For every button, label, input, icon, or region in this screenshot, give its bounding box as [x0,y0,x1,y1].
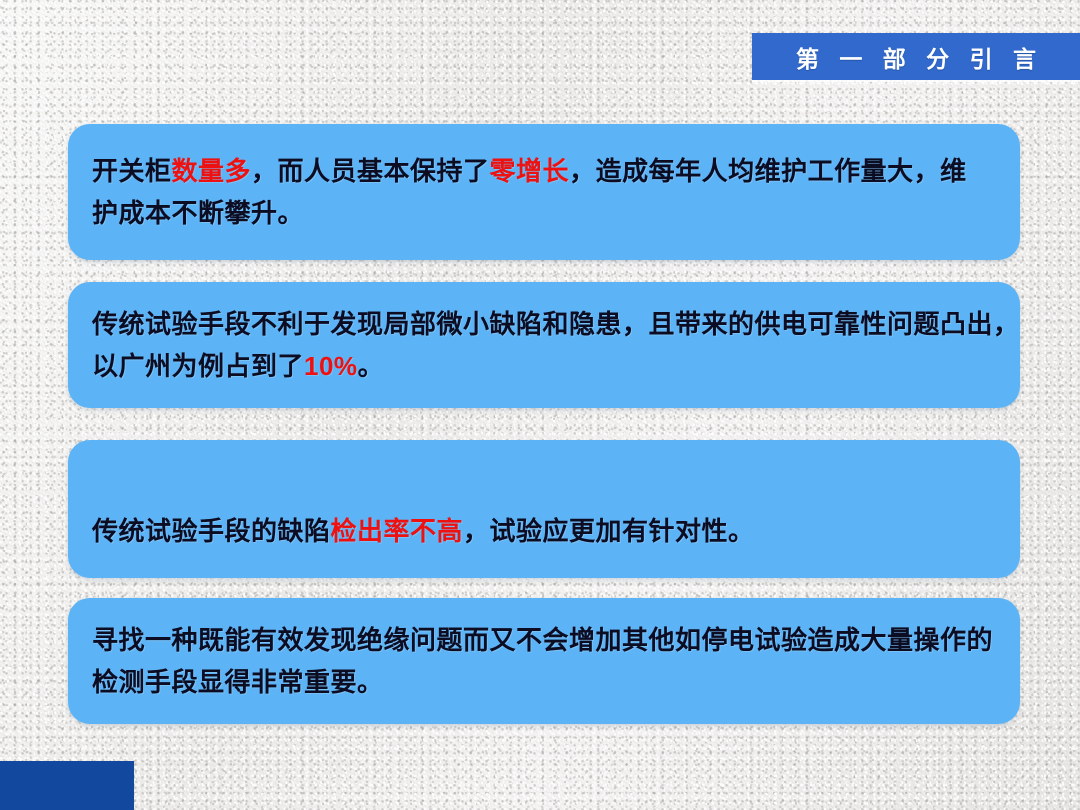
body-text: 护成本不断攀升。 [92,198,304,228]
content-line: 以广州为例占到了10%。 [92,345,996,387]
body-text: 传统试验手段的缺陷 [92,516,331,546]
highlighted-text: 零增长 [490,156,570,186]
body-text: ，试验应更加有针对性。 [463,516,755,546]
highlighted-text: 检出率不高 [331,516,464,546]
highlighted-text: 10% [304,351,358,381]
section-header-title: 第 一 部 分 引 言 [789,40,1043,74]
content-box-1: 开关柜数量多，而人员基本保持了零增长，造成每年人均维护工作量大，维护成本不断攀升… [68,124,1020,260]
bottom-left-accent-block [0,761,134,810]
content-line: 检测手段显得非常重要。 [92,661,996,703]
content-line: 开关柜数量多，而人员基本保持了零增长，造成每年人均维护工作量大，维 [92,150,996,192]
body-text: 以广州为例占到了 [92,351,304,381]
body-text: 寻找一种既能有效发现绝缘问题而又不会增加其他如停电试验造成大量操作的 [92,625,993,655]
highlighted-text: 数量多 [172,156,252,186]
body-text: 传统试验手段不利于发现局部微小缺陷和隐患，且带来的供电可靠性问题凸出， [92,309,1020,339]
body-text: 。 [358,351,385,381]
slide-canvas: 第 一 部 分 引 言 开关柜数量多，而人员基本保持了零增长，造成每年人均维护工… [0,0,1080,810]
body-text: ，而人员基本保持了 [251,156,490,186]
body-text: ，造成每年人均维护工作量大，维 [569,156,967,186]
content-line: 传统试验手段不利于发现局部微小缺陷和隐患，且带来的供电可靠性问题凸出， [92,303,996,345]
content-box-2: 传统试验手段不利于发现局部微小缺陷和隐患，且带来的供电可靠性问题凸出，以广州为例… [68,282,1020,408]
body-text: 开关柜 [92,156,172,186]
content-box-4: 寻找一种既能有效发现绝缘问题而又不会增加其他如停电试验造成大量操作的检测手段显得… [68,598,1020,724]
section-header-banner: 第 一 部 分 引 言 [752,33,1080,80]
content-line: 传统试验手段的缺陷检出率不高，试验应更加有针对性。 [92,510,996,552]
content-line: 寻找一种既能有效发现绝缘问题而又不会增加其他如停电试验造成大量操作的 [92,619,996,661]
content-box-3: 传统试验手段的缺陷检出率不高，试验应更加有针对性。 [68,440,1020,578]
body-text: 检测手段显得非常重要。 [92,667,384,697]
content-line: 护成本不断攀升。 [92,192,996,234]
